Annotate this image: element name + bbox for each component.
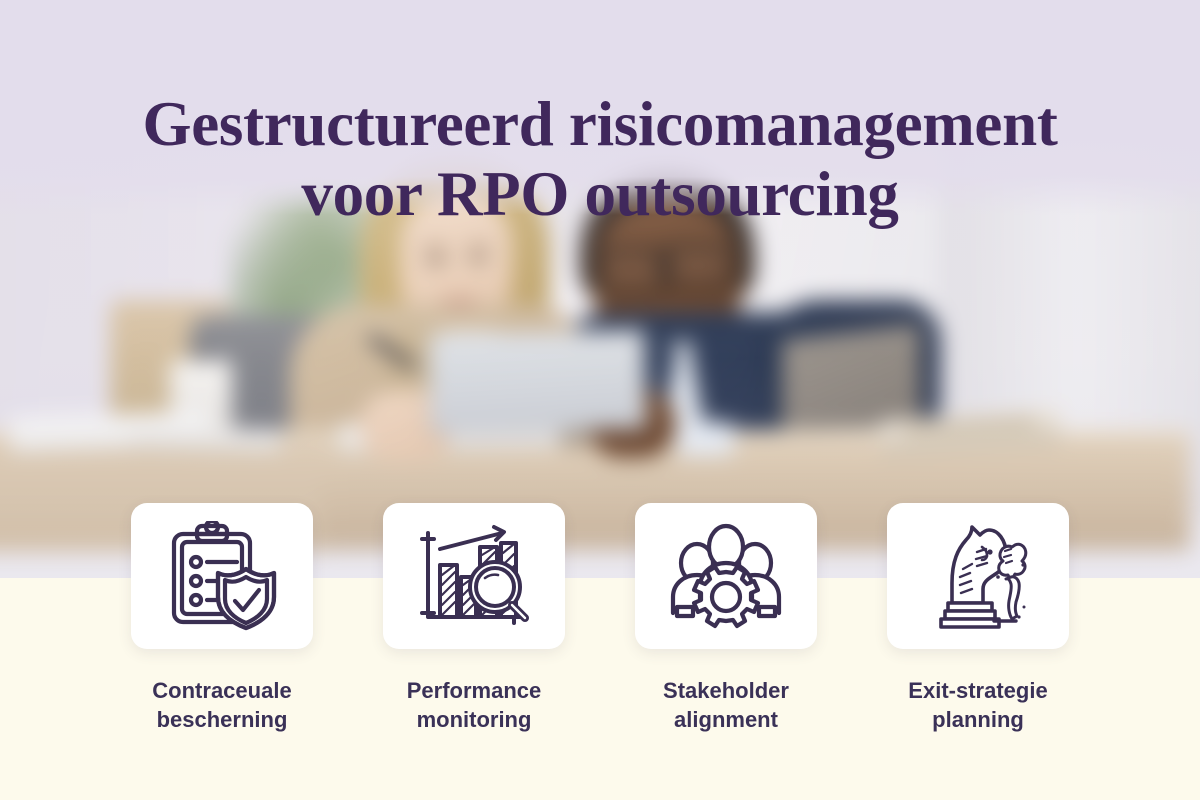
feature-card-exit-strategy-planning[interactable] <box>887 503 1069 649</box>
feature-label-stakeholder-alignment: Stakeholder alignment <box>635 676 817 735</box>
page-title-line-1: Gestructureerd risicomanagement <box>142 89 1057 159</box>
feature-label-exit-strategy-planning: Exit-strategie planning <box>887 676 1069 735</box>
man-shirt-cuff <box>676 422 734 456</box>
clipboard-shield-icon <box>163 521 281 631</box>
man-glasses-right-lens <box>666 244 732 290</box>
woman-eyebrow-left <box>422 243 448 249</box>
feature-label-performance-monitoring: Performance monitoring <box>383 676 565 735</box>
feature-card-row <box>131 503 1069 649</box>
held-document <box>429 330 646 432</box>
page-title-line-2: voor RPO outsourcing <box>0 160 1200 230</box>
woman-eyebrow-right <box>466 241 492 247</box>
feature-card-performance-monitoring[interactable] <box>383 503 565 649</box>
background-photo <box>0 0 1200 578</box>
bar-chart-magnifier-icon <box>415 521 533 631</box>
feature-card-stakeholder-alignment[interactable] <box>635 503 817 649</box>
chess-knight-globe-icon <box>919 521 1037 631</box>
desk-paper-2 <box>130 426 281 452</box>
feature-card-contractual-protection[interactable] <box>131 503 313 649</box>
man-glasses-left-lens <box>600 248 666 294</box>
people-gear-icon <box>667 521 785 631</box>
woman-eye-left <box>426 256 446 264</box>
feature-label-row: Contraceuale bescherning Performance mon… <box>131 676 1069 735</box>
woman-eye-right <box>468 254 488 262</box>
poster-canvas: Gestructureerd risicomanagement voor RPO… <box>0 0 1200 800</box>
page-title: Gestructureerd risicomanagement voor RPO… <box>0 90 1200 230</box>
feature-label-contractual-protection: Contraceuale bescherning <box>131 676 313 735</box>
man-glasses-bridge <box>654 260 670 265</box>
